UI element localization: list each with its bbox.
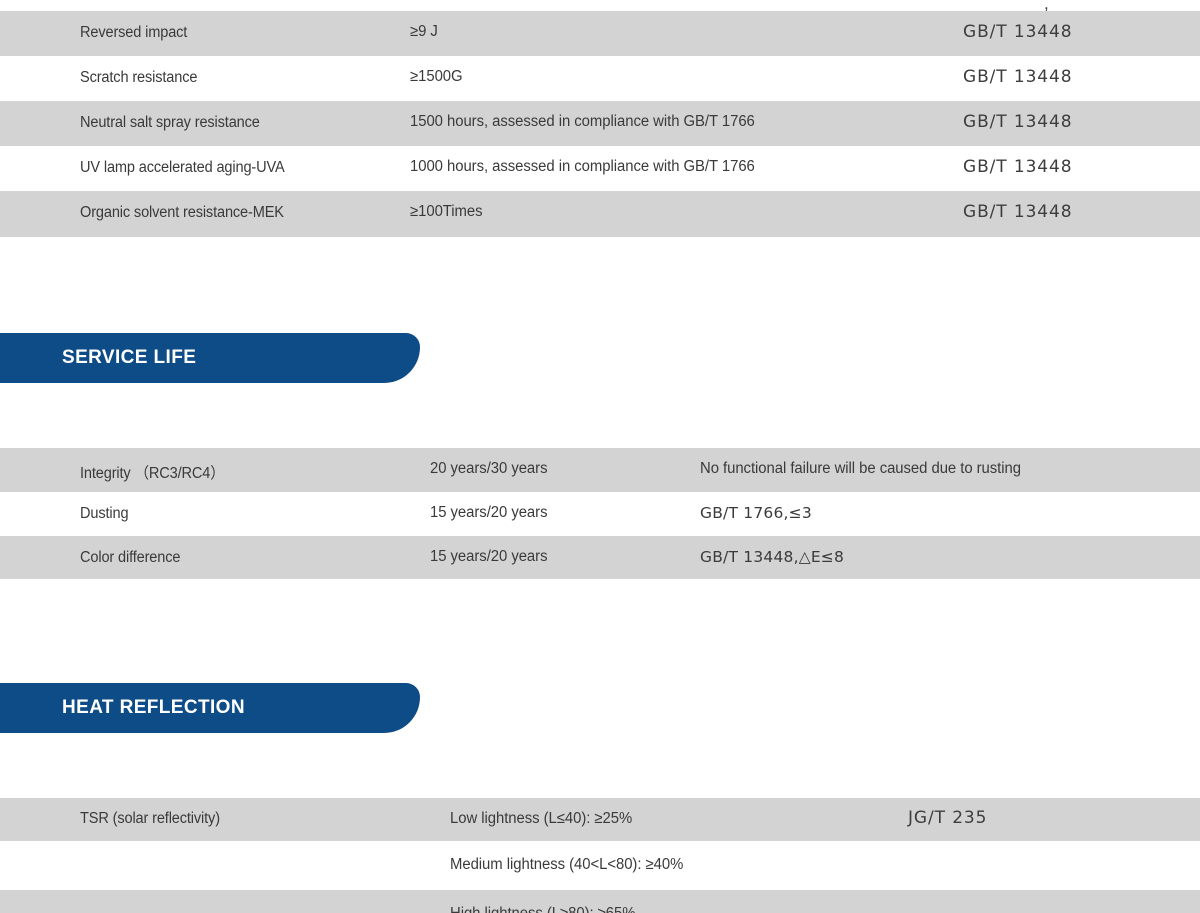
section-title-heat-reflection: HEAT REFLECTION (62, 697, 245, 719)
property-name: Neutral salt spray resistance (80, 114, 260, 132)
property-value: ≥100Times (410, 203, 483, 221)
service-duration: 15 years/20 years (430, 504, 547, 522)
table-row: Scratch resistance ≥1500G GB/T 13448 (0, 56, 1200, 101)
property-value: ≥1500G (410, 68, 463, 86)
service-life-table: Integrity （RC3/RC4） 20 years/30 years No… (0, 448, 1200, 579)
table-row: TSR (solar reflectivity) Low lightness (… (0, 798, 1200, 841)
table-row: High lightness (L≥80): ≥65% (0, 890, 1200, 913)
property-name: Organic solvent resistance-MEK (80, 204, 284, 222)
table-row: Neutral salt spray resistance 1500 hours… (0, 101, 1200, 146)
section-banner-service-life: SERVICE LIFE (0, 333, 420, 383)
section-title-service-life: SERVICE LIFE (62, 347, 196, 369)
section-banner-heat-reflection: HEAT REFLECTION (0, 683, 420, 733)
service-duration: 15 years/20 years (430, 548, 547, 566)
heat-reflection-table: TSR (solar reflectivity) Low lightness (… (0, 798, 1200, 913)
property-value: Medium lightness (40<L<80): ≥40% (450, 856, 683, 874)
standard-code: GB/T 13448 (963, 22, 1072, 42)
property-name: Color difference (80, 549, 180, 567)
performance-table: Reversed impact ≥9 J GB/T 13448 Scratch … (0, 11, 1200, 237)
property-value: 1000 hours, assessed in compliance with … (410, 158, 755, 176)
standard-code: GB/T 13448 (963, 157, 1072, 177)
property-value: ≥9 J (410, 23, 438, 41)
table-row: UV lamp accelerated aging-UVA 1000 hours… (0, 146, 1200, 191)
property-name: Reversed impact (80, 24, 187, 42)
property-value: Low lightness (L≤40): ≥25% (450, 810, 632, 828)
standard-code: GB/T 13448 (963, 67, 1072, 87)
service-note: GB/T 1766,≤3 (700, 504, 812, 522)
table-row: Color difference 15 years/20 years GB/T … (0, 536, 1200, 579)
table-row: Medium lightness (40<L<80): ≥40% (0, 841, 1200, 890)
service-duration: 20 years/30 years (430, 460, 547, 478)
document-page: , Reversed impact ≥9 J GB/T 13448 Scratc… (0, 0, 1200, 913)
property-name: Scratch resistance (80, 69, 197, 87)
property-name: Integrity （RC3/RC4） (80, 461, 225, 483)
property-name: UV lamp accelerated aging-UVA (80, 159, 285, 177)
property-value: High lightness (L≥80): ≥65% (450, 905, 635, 913)
standard-code: GB/T 13448 (963, 202, 1072, 222)
table-row: Dusting 15 years/20 years GB/T 1766,≤3 (0, 492, 1200, 536)
property-name: Dusting (80, 505, 128, 523)
table-row: Integrity （RC3/RC4） 20 years/30 years No… (0, 448, 1200, 492)
service-note: No functional failure will be caused due… (700, 460, 1021, 478)
table-row: Reversed impact ≥9 J GB/T 13448 (0, 11, 1200, 56)
service-note: GB/T 13448,△E≤8 (700, 548, 844, 566)
property-value: 1500 hours, assessed in compliance with … (410, 113, 755, 131)
standard-code: GB/T 13448 (963, 112, 1072, 132)
property-name: TSR (solar reflectivity) (80, 810, 220, 828)
table-row: Organic solvent resistance-MEK ≥100Times… (0, 191, 1200, 237)
standard-code: JG/T 235 (908, 808, 987, 828)
